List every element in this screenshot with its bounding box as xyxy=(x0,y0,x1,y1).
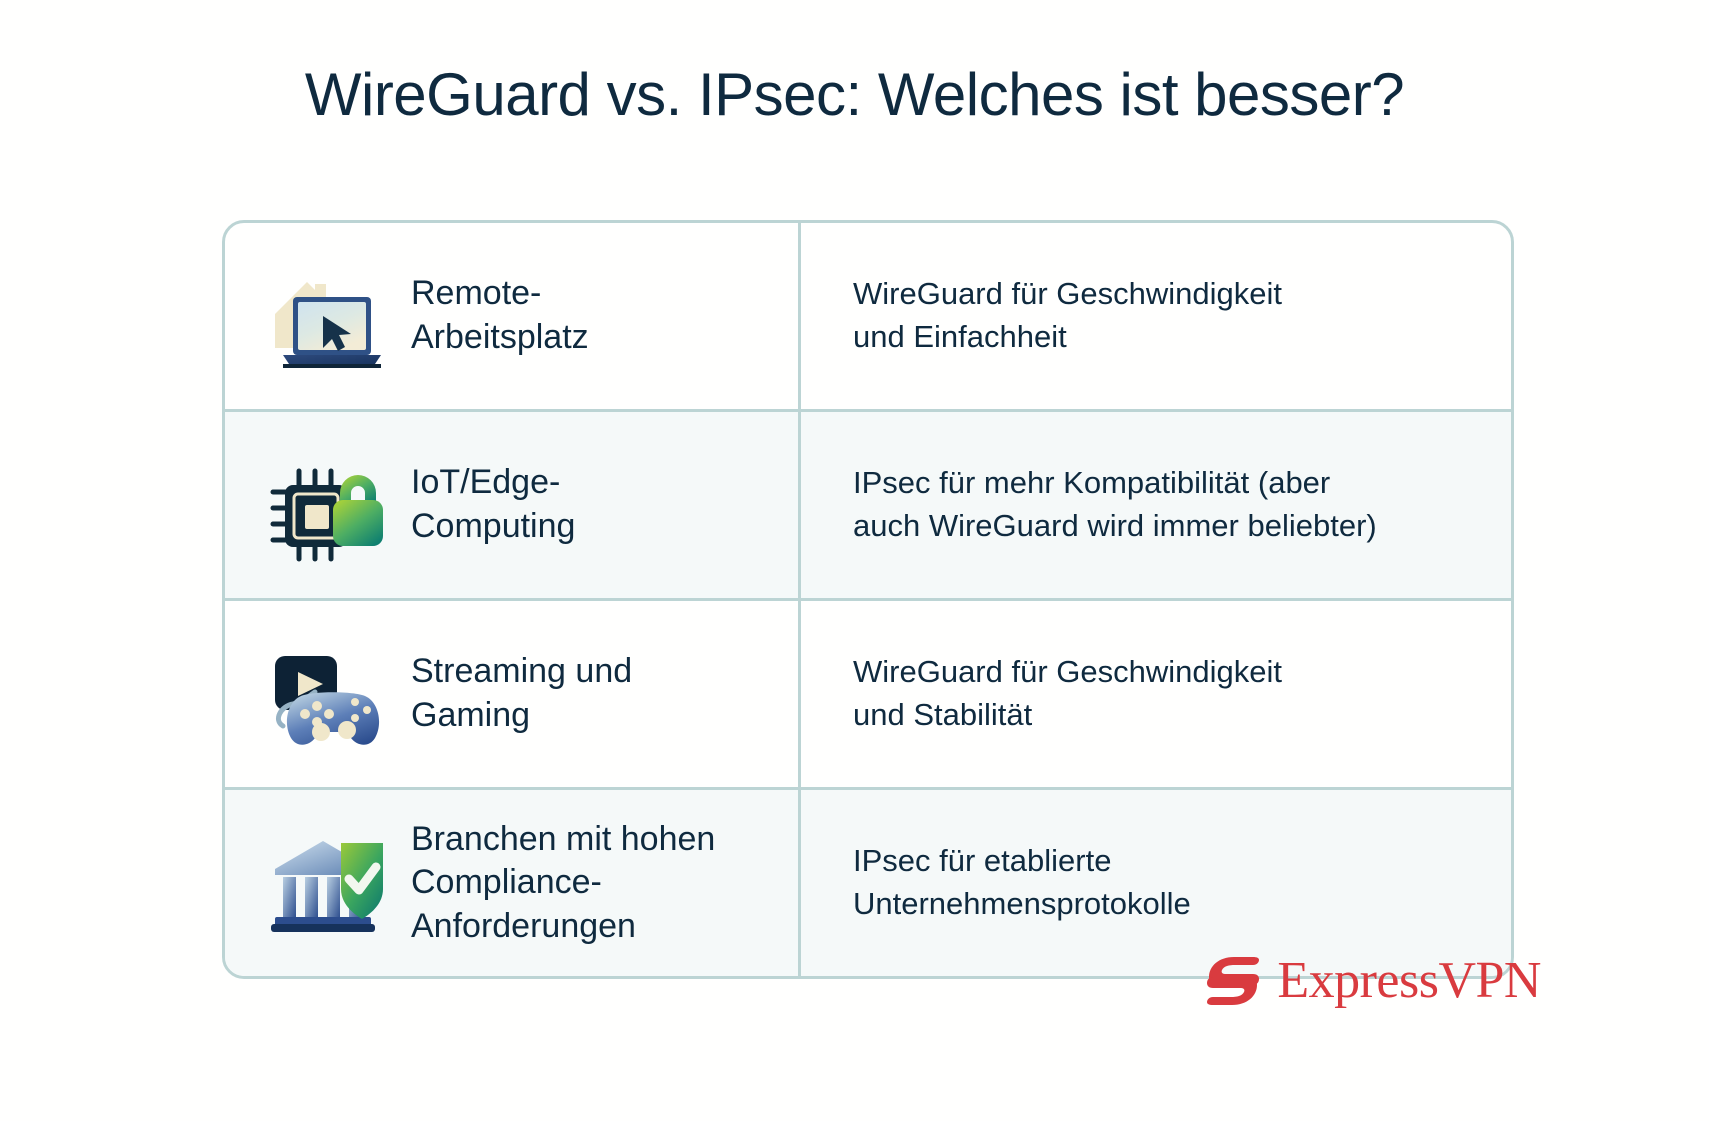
table-row: Remote-Arbeitsplatz WireGuard für Geschw… xyxy=(225,223,1511,412)
use-case-cell: IoT/Edge-Computing xyxy=(225,412,801,598)
video-gamepad-icon xyxy=(261,634,393,754)
recommendation-cell: WireGuard für Geschwindigkeitund Stabili… xyxy=(801,601,1511,787)
infographic-page: WireGuard vs. IPsec: Welches ist besser? xyxy=(0,0,1709,1121)
recommendation-text: WireGuard für Geschwindigkeitund Einfach… xyxy=(853,273,1282,359)
recommendation-text: WireGuard für Geschwindigkeitund Stabili… xyxy=(853,651,1282,737)
use-case-cell: Remote-Arbeitsplatz xyxy=(225,223,801,409)
use-case-label: Streaming undGaming xyxy=(411,650,632,737)
recommendation-cell: WireGuard für Geschwindigkeitund Einfach… xyxy=(801,223,1511,409)
table-row: Streaming undGaming WireGuard für Geschw… xyxy=(225,601,1511,790)
use-case-cell: Branchen mit hohenCompliance-Anforderung… xyxy=(225,790,801,976)
comparison-table: Remote-Arbeitsplatz WireGuard für Geschw… xyxy=(222,220,1514,979)
use-case-label: IoT/Edge-Computing xyxy=(411,461,575,548)
brand-name: ExpressVPN xyxy=(1277,955,1541,1007)
recommendation-cell: IPsec für mehr Kompatibilität (aberauch … xyxy=(801,412,1511,598)
bank-shield-check-icon xyxy=(261,823,393,943)
table-row: IoT/Edge-Computing IPsec für mehr Kompat… xyxy=(225,412,1511,601)
expressvpn-logo: ExpressVPN xyxy=(1201,949,1541,1013)
page-title: WireGuard vs. IPsec: Welches ist besser? xyxy=(0,60,1709,129)
recommendation-text: IPsec für etablierteUnternehmensprotokol… xyxy=(853,840,1191,926)
use-case-cell: Streaming undGaming xyxy=(225,601,801,787)
use-case-label: Remote-Arbeitsplatz xyxy=(411,272,589,359)
recommendation-text: IPsec für mehr Kompatibilität (aberauch … xyxy=(853,462,1377,548)
expressvpn-logo-icon xyxy=(1201,949,1265,1013)
use-case-label: Branchen mit hohenCompliance-Anforderung… xyxy=(411,818,715,949)
house-laptop-icon xyxy=(261,256,393,376)
chip-lock-icon xyxy=(261,445,393,565)
